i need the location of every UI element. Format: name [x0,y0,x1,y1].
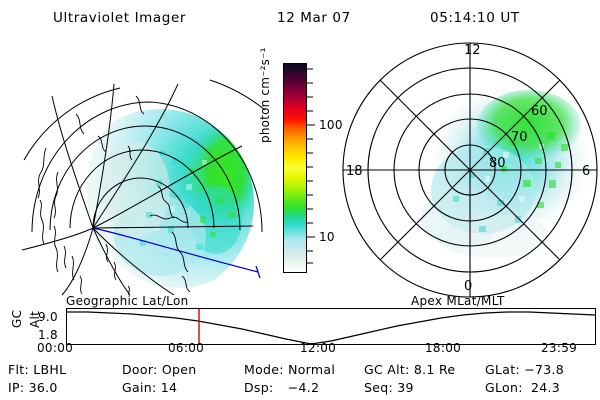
status-dsp-value: −4.2 [288,380,320,395]
apex-mlt-panel[interactable]: 12 6 0 18 60 70 80 [333,40,600,298]
status-seq-value: 39 [397,380,414,395]
time-tick-2359: 23:59 [541,341,577,355]
colorbar-axis-title: photon cm⁻²s⁻¹ [258,0,272,143]
mlat-label-80: 80 [489,156,506,171]
status-glat-value: −73.8 [524,362,564,377]
status-gain: Gain: 14 [122,380,177,395]
status-gain-value: 14 [161,380,178,395]
status-door-value: Open [162,362,197,377]
mlt-label-18: 18 [346,164,363,179]
mlat-label-70: 70 [511,130,528,145]
status-filter-label: Flt: [8,362,29,377]
status-seq-label: Seq: [364,380,393,395]
geographic-image-panel[interactable] [10,40,265,295]
geographic-panel-caption: Geographic Lat/Lon [66,294,189,308]
status-dsp: Dsp: −4.2 [244,380,319,395]
status-seq: Seq: 39 [364,380,414,395]
time-tick-0000: 00:00 [37,341,73,355]
status-gcalt-value: 8.1 Re [414,362,455,377]
status-gain-label: Gain: [122,380,156,395]
status-ip-value: 36.0 [29,380,58,395]
mlt-panel-caption: Apex MLat/MLT [411,294,505,308]
time-tick-1200: 12:00 [300,341,336,355]
status-ip-label: IP: [8,380,24,395]
status-glon-label: GLon: [485,380,523,395]
status-gcalt-label: GC Alt: [364,362,410,377]
gc-alt-strip-chart[interactable]: Geographic Lat/Lon Apex MLat/MLT GC Alt … [0,296,600,344]
status-mode: Mode: Normal [244,362,335,377]
status-dsp-label: Dsp: [244,380,273,395]
mlt-label-6: 6 [582,164,590,179]
time-tick-0600: 06:00 [168,341,204,355]
status-gcalt: GC Alt: 8.1 Re [364,362,455,377]
aurora-emission-geographic [86,92,270,288]
aurora-emission-mlt [421,88,589,258]
status-door: Door: Open [122,362,196,377]
status-door-label: Door: [122,362,158,377]
status-mode-label: Mode: [244,362,284,377]
status-filter: Flt: LBHL [8,362,66,377]
status-mode-value: Normal [288,362,335,377]
mlt-label-12: 12 [464,43,481,58]
time-axis: 00:00 06:00 12:00 18:00 23:59 [0,341,600,359]
status-glon: GLon: 24.3 [485,380,560,395]
gc-alt-ytick-high: 9.0 [38,310,58,324]
mlt-spokes [343,43,597,297]
gc-alt-axis-label-gc: GC [10,310,24,328]
colorbar-panel: photon cm⁻²s⁻¹ [262,55,332,295]
status-filter-value: LBHL [33,362,66,377]
time-tick-1800: 18:00 [425,341,461,355]
instrument-title: Ultraviolet Imager [53,10,186,26]
observation-date: 12 Mar 07 [277,10,351,26]
mlat-label-60: 60 [531,104,548,119]
status-glon-value: 24.3 [531,380,560,395]
mlt-label-0: 0 [464,279,472,294]
colorbar-gradient [283,63,319,293]
status-ip: IP: 36.0 [8,380,58,395]
observation-time: 05:14:10 UT [430,10,520,26]
mlt-dial-svg: 12 6 0 18 60 70 80 [333,40,600,298]
status-glat: GLat: −73.8 [485,362,564,377]
status-block: Flt: LBHL IP: 36.0 Door: Open Gain: 14 M… [0,362,600,400]
geographic-plot-svg [10,40,265,295]
header-bar: Ultraviolet Imager 12 Mar 07 05:14:10 UT [0,6,600,30]
gc-alt-ytick-low: 1.8 [38,328,58,342]
status-glat-label: GLat: [485,362,520,377]
